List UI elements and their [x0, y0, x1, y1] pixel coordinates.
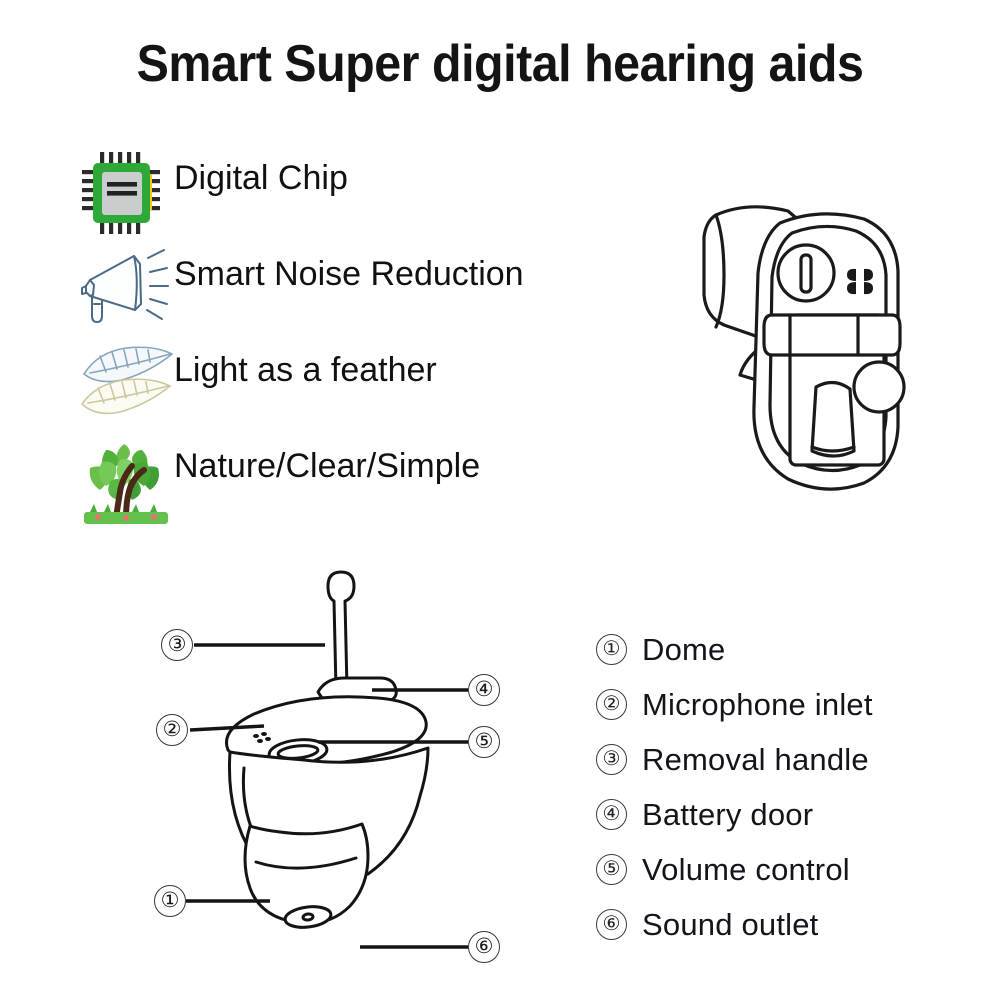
- legend-label: Sound outlet: [642, 909, 819, 940]
- legend-item-sound-outlet: ⑥Sound outlet: [596, 909, 873, 964]
- legend-label: Microphone inlet: [642, 689, 873, 720]
- legend-number: ②: [596, 689, 627, 720]
- legend-number: ①: [596, 634, 627, 665]
- callout-5[interactable]: ⑤: [468, 726, 500, 758]
- feature-item-noise-reduction: Smart Noise Reduction: [72, 246, 592, 342]
- feature-list: Digital Chip: [72, 150, 592, 534]
- callout-3[interactable]: ③: [161, 629, 193, 661]
- legend-number: ④: [596, 799, 627, 830]
- feature-label: Light as a feather: [174, 350, 437, 390]
- legend-label: Battery door: [642, 799, 813, 830]
- callout-2[interactable]: ②: [156, 714, 188, 746]
- feather-icon: [80, 342, 162, 428]
- legend-number: ⑥: [596, 909, 627, 940]
- callout-1[interactable]: ①: [154, 885, 186, 917]
- legend-label: Removal handle: [642, 744, 869, 775]
- hearing-aid-product-illustration: [620, 175, 950, 515]
- megaphone-noise-reduction-icon: [80, 246, 162, 332]
- legend-item-battery-door: ④Battery door: [596, 799, 873, 854]
- tree-nature-icon: [80, 438, 162, 524]
- page-title: Smart Super digital hearing aids: [35, 34, 965, 94]
- leader-line-2: [190, 726, 264, 730]
- callout-leader-lines: [150, 600, 550, 980]
- feature-item-nature: Nature/Clear/Simple: [72, 438, 592, 534]
- callout-6[interactable]: ⑥: [468, 931, 500, 963]
- side-nub: [854, 362, 904, 412]
- feature-item-digital-chip: Digital Chip: [72, 150, 592, 246]
- legend-item-dome: ①Dome: [596, 634, 873, 689]
- parts-legend: ①Dome ②Microphone inlet ③Removal handle …: [596, 634, 873, 964]
- legend-label: Volume control: [642, 854, 850, 885]
- digital-chip-icon: [80, 150, 162, 236]
- callout-4[interactable]: ④: [468, 674, 500, 706]
- product-infographic: Smart Super digital hearing aids: [0, 0, 1000, 1000]
- legend-number: ③: [596, 744, 627, 775]
- legend-number: ⑤: [596, 854, 627, 885]
- legend-label: Dome: [642, 634, 726, 665]
- feature-label: Smart Noise Reduction: [174, 254, 524, 294]
- legend-item-removal-handle: ③Removal handle: [596, 744, 873, 799]
- feature-item-light-feather: Light as a feather: [72, 342, 592, 438]
- feature-label: Nature/Clear/Simple: [174, 446, 480, 486]
- sound-outlet-shape: [812, 382, 854, 456]
- legend-item-volume-control: ⑤Volume control: [596, 854, 873, 909]
- feature-label: Digital Chip: [174, 158, 348, 198]
- legend-item-microphone-inlet: ②Microphone inlet: [596, 689, 873, 744]
